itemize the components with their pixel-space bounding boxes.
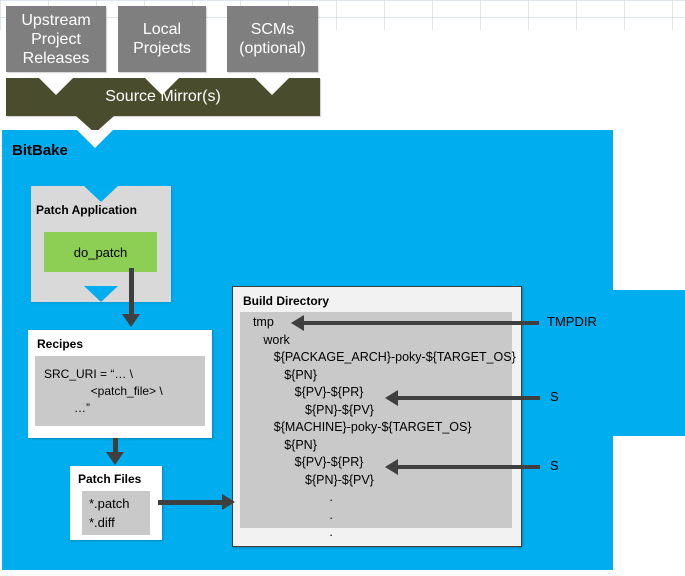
patch-files-to-build-directory-arrow-head-icon [222, 494, 235, 510]
source-box-local-projects: Local Projects [118, 6, 206, 72]
patch-files-to-build-directory-arrow-line [158, 500, 226, 505]
s-callout-arrow-line-package-arch [398, 396, 540, 400]
build-directory-title: Build Directory [243, 294, 329, 308]
bitbake-label: BitBake [12, 142, 68, 159]
source-box-label: Local Projects [133, 20, 191, 58]
mirror-notch-local-icon [145, 78, 179, 95]
s-callout-arrow-line-machine [398, 465, 540, 469]
patch-files-extension-list: *.patch *.diff [89, 494, 129, 532]
patch-application-title: Patch Application [36, 203, 137, 217]
tmpdir-callout-arrow-line [304, 321, 539, 325]
recipes-to-patch-files-arrow-head-icon [106, 452, 124, 465]
s-variable-label-package-arch: S [550, 389, 559, 404]
do-patch-label: do_patch [74, 245, 128, 260]
source-box-upstream-project-releases: Upstream Project Releases [6, 6, 106, 72]
build-directory-tree: tmp work ${PACKAGE_ARCH}-poky-${TARGET_O… [246, 314, 508, 542]
patch-application-top-notch-icon [84, 186, 118, 202]
do-patch-task-box[interactable]: do_patch [44, 232, 157, 272]
tmpdir-variable-label: TMPDIR [547, 314, 597, 329]
recipes-title: Recipes [37, 337, 83, 351]
mirror-notch-upstream-icon [39, 78, 73, 95]
patch-application-bottom-notch-icon [84, 286, 118, 302]
source-box-scms-optional: SCMs (optional) [227, 6, 318, 72]
source-box-label: SCMs (optional) [239, 20, 306, 58]
patch-files-title: Patch Files [78, 472, 141, 486]
do-patch-to-recipes-arrow-line [129, 268, 134, 316]
s-callout-arrow-head-icon-machine [385, 459, 398, 475]
recipes-src-uri-code: SRC_URI = “… \ <patch_file> \ …” [44, 366, 204, 417]
diagram-canvas: BitBake Upstream Project Releases Local … [0, 0, 685, 576]
bitbake-region-extension [613, 290, 685, 436]
s-variable-label-machine: S [550, 458, 559, 473]
source-box-label: Upstream Project Releases [21, 11, 90, 68]
bitbake-top-notch-icon [77, 130, 113, 148]
do-patch-to-recipes-arrow-head-icon [122, 314, 140, 327]
s-callout-arrow-head-icon-package-arch [385, 390, 398, 406]
mirror-notch-scms-icon [255, 78, 289, 95]
tmpdir-callout-arrow-head-icon [291, 315, 304, 331]
